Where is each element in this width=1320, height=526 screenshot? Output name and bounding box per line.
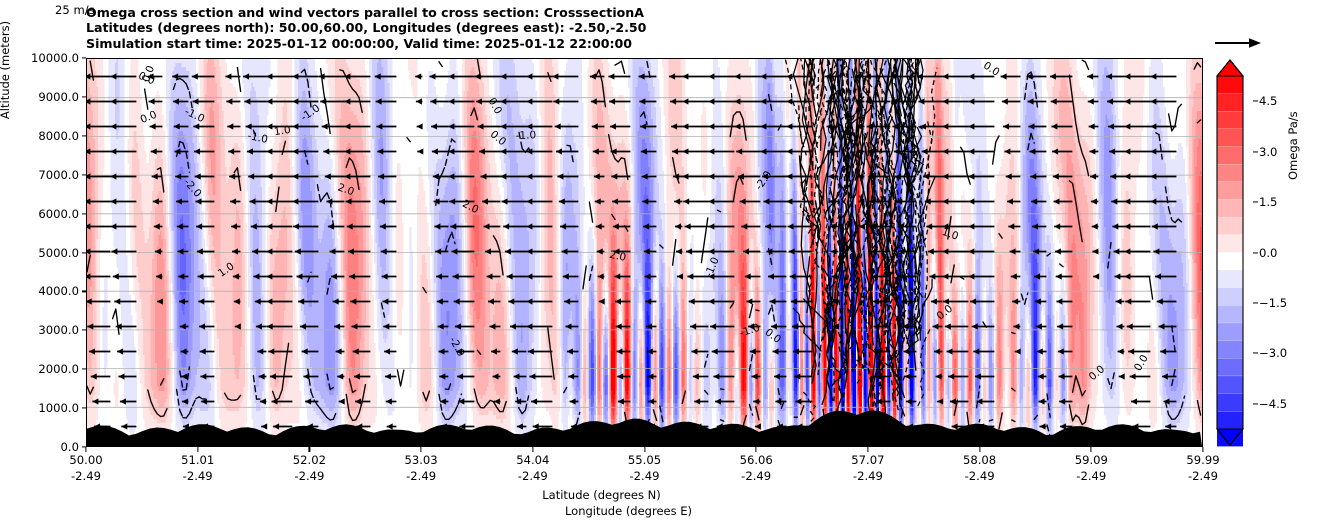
colorbar: 4.53.01.50.0−1.5−3.0−4.5 [1213, 58, 1253, 447]
y-axis-tick-label: 8000.0 [38, 129, 79, 143]
y-axis-tick-label: 5000.0 [38, 246, 79, 260]
title-line-1: Omega cross section and wind vectors par… [86, 5, 646, 20]
colorbar-tick-mark [1253, 151, 1258, 152]
x-axis-tick-mark [644, 447, 645, 452]
x-axis-tick-mark [85, 447, 86, 452]
x-axis-tick-label: 54.04-2.49 [516, 453, 549, 484]
y-axis-tick-mark [82, 369, 87, 370]
plot-area: 2.02.00.00.01.00.00.0-1.0-1.01.0-2.0-2.0… [86, 58, 1203, 447]
y-axis-tick-label: 0.0 [61, 440, 79, 454]
figure-title: Omega cross section and wind vectors par… [86, 5, 646, 51]
y-axis-tick-label: 10000.0 [31, 51, 79, 65]
x-axis-tick-label: 50.00-2.49 [69, 453, 102, 484]
x-axis-tick-label: 53.03-2.49 [404, 453, 437, 484]
x-axis-label-longitude: Longitude (degrees E) [0, 504, 1203, 520]
vector-key [1213, 33, 1320, 55]
colorbar-tick-mark [1253, 252, 1258, 253]
y-axis-tick-mark [82, 330, 87, 331]
vector-key-label: 25 m/s [55, 3, 95, 17]
x-axis-tick-label: 56.06-2.49 [740, 453, 773, 484]
omega-cross-section-field: 2.02.00.00.01.00.00.0-1.0-1.01.0-2.0-2.0… [87, 59, 1202, 446]
y-axis-tick-mark [82, 252, 87, 253]
y-axis-tick-label: 3000.0 [38, 323, 79, 337]
x-axis-tick-mark [979, 447, 980, 452]
y-axis-tick-mark [82, 174, 87, 175]
title-line-3: Simulation start time: 2025-01-12 00:00:… [86, 36, 646, 51]
arrow-right-icon [1213, 33, 1263, 53]
colorbar-tick-label: 3.0 [1259, 145, 1277, 159]
x-axis-tick-mark [1202, 447, 1203, 452]
x-axis-tick-label: 59.09-2.49 [1075, 453, 1108, 484]
colorbar-tick-mark [1253, 202, 1258, 203]
colorbar-tick-label: −3.0 [1259, 346, 1287, 360]
x-axis-tick-label: 57.07-2.49 [851, 453, 884, 484]
y-axis-tick-mark [82, 96, 87, 97]
x-axis-labels: Latitude (degrees N) Longitude (degrees … [0, 488, 1203, 519]
colorbar-tick-mark [1253, 302, 1258, 303]
y-axis-tick-label: 7000.0 [38, 168, 79, 182]
x-axis-tick-label: 58.08-2.49 [963, 453, 996, 484]
colorbar-tick-mark [1253, 353, 1258, 354]
y-axis-tick-label: 9000.0 [38, 90, 79, 104]
x-axis-tick-mark [756, 447, 757, 452]
x-axis-tick-label: 51.01-2.49 [181, 453, 214, 484]
x-axis-tick-mark [532, 447, 533, 452]
y-axis-tick-mark [82, 135, 87, 136]
colorbar-label: Omega Pa/s [1286, 111, 1300, 180]
x-axis-tick-mark [867, 447, 868, 452]
colorbar-tick-label: 0.0 [1259, 246, 1277, 260]
y-axis-tick-mark [82, 408, 87, 409]
x-axis-label-latitude: Latitude (degrees N) [0, 488, 1203, 504]
x-axis-tick-mark [309, 447, 310, 452]
y-axis-tick-mark [82, 291, 87, 292]
colorbar-tick-label: 4.5 [1259, 94, 1277, 108]
colorbar-tick-label: −1.5 [1259, 296, 1287, 310]
y-axis-tick-mark [82, 57, 87, 58]
y-axis-tick-mark [82, 213, 87, 214]
x-axis-tick-label: 59.99-2.49 [1186, 453, 1219, 484]
colorbar-tick-mark [1253, 101, 1258, 102]
y-axis-label: Altitude (meters) [0, 0, 12, 170]
y-axis-tick-label: 1000.0 [38, 401, 79, 415]
y-axis-tick-label: 6000.0 [38, 207, 79, 221]
colorbar-tick-mark [1253, 403, 1258, 404]
colorbar-gradient [1213, 58, 1253, 447]
x-axis-tick-label: 55.05-2.49 [628, 453, 661, 484]
x-axis-tick-mark [421, 447, 422, 452]
x-axis-tick-mark [197, 447, 198, 452]
colorbar-tick-label: −4.5 [1259, 397, 1287, 411]
title-line-2: Latitudes (degrees north): 50.00,60.00, … [86, 20, 646, 35]
x-axis-tick-label: 52.02-2.49 [293, 453, 326, 484]
figure-canvas: Omega cross section and wind vectors par… [0, 0, 1320, 526]
y-axis-tick-label: 4000.0 [38, 284, 79, 298]
x-axis-tick-mark [1091, 447, 1092, 452]
y-axis-tick-label: 2000.0 [38, 362, 79, 376]
colorbar-tick-label: 1.5 [1259, 195, 1277, 209]
